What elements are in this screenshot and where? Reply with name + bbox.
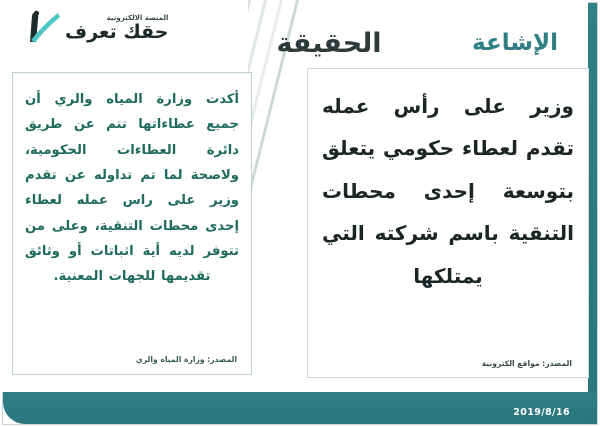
logo-text: المنصة الالكترونية حقك تعرف [65, 15, 168, 42]
infographic-screen: المنصة الالكترونية حقك تعرف الحقيقة الإش… [0, 0, 600, 427]
truth-body-text: أكدت وزارة المياه والري أن جميع عطاءاتها… [25, 87, 239, 290]
truth-source-label: المصدر: وزارة المياه والري [136, 355, 237, 364]
publish-date: 2019/8/16 [513, 407, 570, 418]
rumor-source-label: المصدر: مواقع الكترونية [482, 359, 572, 368]
rumor-card: وزير على رأس عمله تقدم لعطاء حكومي يتعلق… [307, 68, 589, 378]
rumor-body-text: وزير على رأس عمله تقدم لعطاء حكومي يتعلق… [322, 85, 574, 297]
footer-bar [3, 392, 597, 424]
logo-brand-name: حقك تعرف [65, 23, 168, 42]
check-mark-icon [18, 10, 62, 46]
truth-header: الحقيقة [234, 28, 424, 59]
brand-logo: المنصة الالكترونية حقك تعرف [18, 8, 158, 48]
truth-card: أكدت وزارة المياه والري أن جميع عطاءاتها… [12, 72, 252, 375]
rumor-header: الإشاعة [440, 30, 590, 56]
